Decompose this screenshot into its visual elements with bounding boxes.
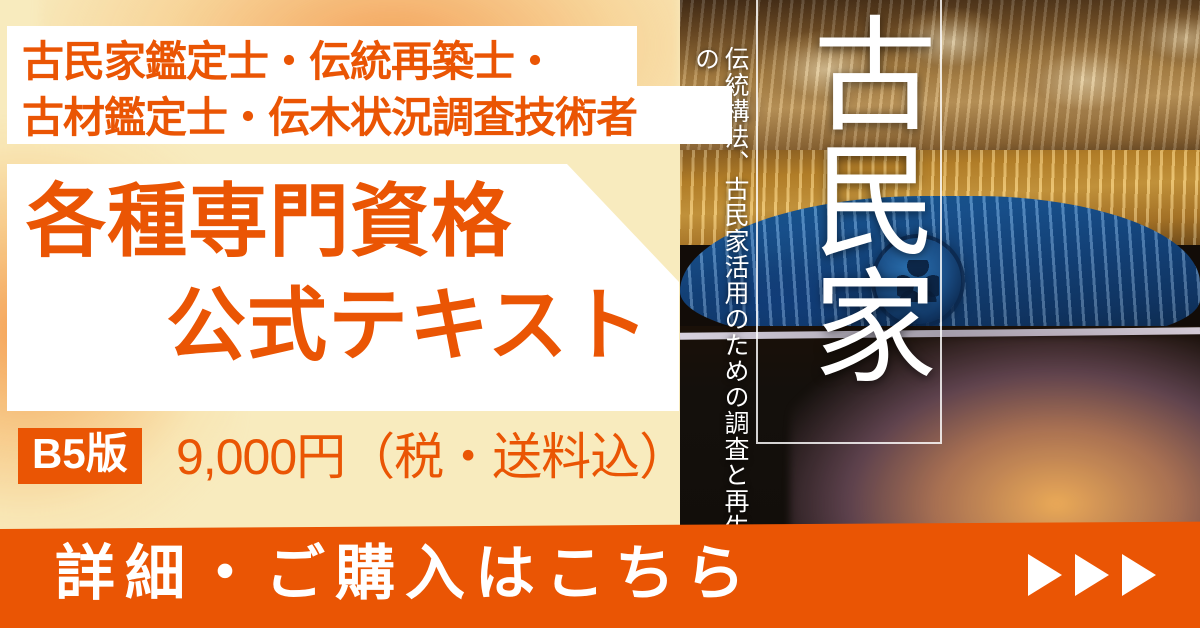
qualifications-line-2: 古材鑑定士・伝木状況調査技術者 — [22, 90, 722, 146]
headline-line-1: 各種専門資格 — [26, 182, 512, 262]
triangle-right-icon — [1028, 554, 1062, 596]
book-cover-image: 古民家 伝統構法、古民家活用のための調査と再生の — [680, 0, 1200, 545]
headline-line-2: 公式テキスト — [166, 286, 650, 366]
triangle-right-icon — [1122, 554, 1156, 596]
price-text: 9,000円（税・送料込） — [176, 432, 688, 482]
qualifications-text: 古民家鑑定士・伝統再築士・ 古材鑑定士・伝木状況調査技術者 — [22, 34, 722, 147]
promo-banner: 古民家 伝統構法、古民家活用のための調査と再生の 古民家鑑定士・伝統再築士・ 古… — [0, 0, 1200, 628]
cta-arrows[interactable] — [1028, 554, 1156, 596]
book-title: 古民家 — [764, 10, 934, 388]
cta-label[interactable]: 詳細・ご購入はこちら — [55, 544, 755, 604]
triangle-right-icon — [1075, 554, 1109, 596]
qualifications-line-1: 古民家鑑定士・伝統再築士・ — [22, 34, 722, 90]
size-badge: B5版 — [18, 428, 142, 484]
